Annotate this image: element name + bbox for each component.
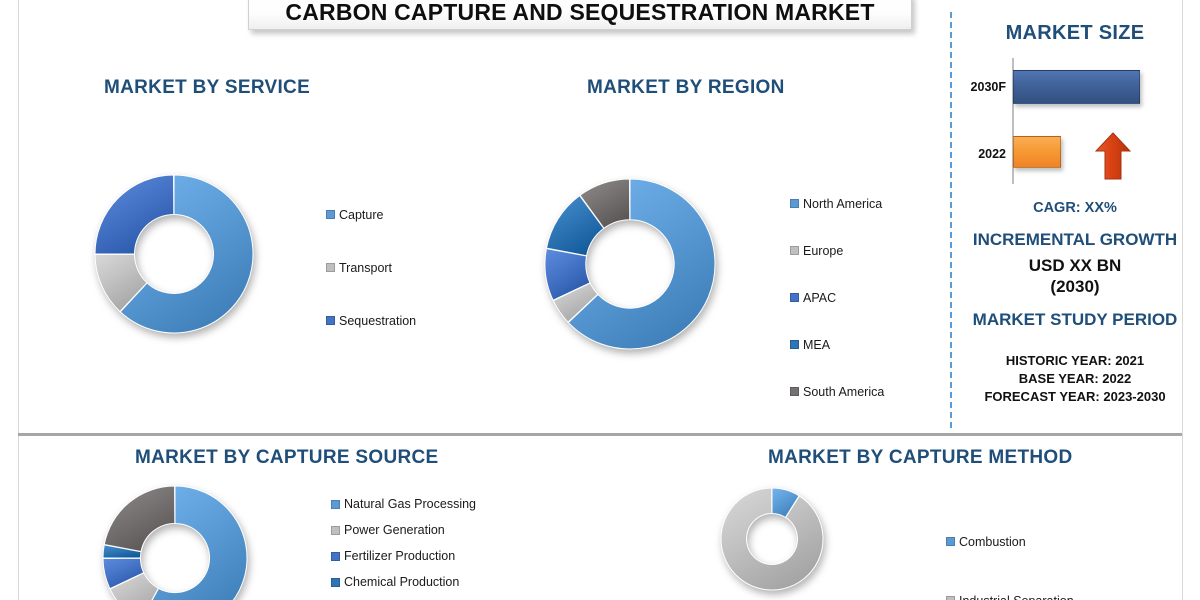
incremental-growth-title: INCREMENTAL GROWTH (950, 230, 1200, 250)
page-title: CARBON CAPTURE AND SEQUESTRATION MARKET (285, 0, 874, 26)
market-study-period-title: MARKET STUDY PERIOD (950, 310, 1200, 330)
donut-chart-market-by-service (92, 172, 256, 336)
incremental-growth-value: USD XX BN (950, 255, 1200, 276)
legend-label: MEA (803, 338, 830, 352)
donut-chart-market-by-region (542, 176, 718, 352)
section-title-market-by-capture-method: MARKET BY CAPTURE METHOD (768, 447, 1073, 469)
legend-item[interactable]: Combustion (946, 512, 1074, 571)
growth-arrow-up-icon (1095, 132, 1131, 180)
market-study-period-lines: HISTORIC YEAR: 2021 BASE YEAR: 2022 FORE… (950, 352, 1200, 406)
incremental-growth-value-block: USD XX BN (2030) (950, 255, 1200, 297)
legend-swatch-icon (790, 199, 799, 208)
title-banner: CARBON CAPTURE AND SEQUESTRATION MARKET (248, 0, 912, 30)
section-title-market-size: MARKET SIZE (950, 22, 1200, 45)
legend-item[interactable]: Transport (326, 241, 416, 294)
cagr-label: CAGR: XX% (950, 200, 1200, 216)
legend-swatch-icon (946, 596, 955, 600)
legend-item[interactable]: Natural Gas Processing (331, 491, 476, 517)
legend-item[interactable]: Others (331, 595, 476, 600)
legend-swatch-icon (790, 293, 799, 302)
frame-border-right (1182, 0, 1183, 600)
frame-border-left (18, 0, 19, 600)
legend-label: Combustion (959, 535, 1026, 549)
infographic-canvas: CARBON CAPTURE AND SEQUESTRATION MARKET … (0, 0, 1200, 600)
bar-category-label-2022: 2022 (948, 147, 1006, 161)
legend-item[interactable]: APAC (790, 274, 884, 321)
legend-label: South America (803, 385, 884, 399)
section-title-market-by-capture-source: MARKET BY CAPTURE SOURCE (135, 447, 438, 469)
legend-swatch-icon (326, 210, 335, 219)
donut-chart-market-by-capture-source (100, 483, 250, 600)
horizontal-divider (18, 433, 1182, 436)
bar-2022 (1013, 136, 1061, 168)
historic-year: HISTORIC YEAR: 2021 (950, 352, 1200, 370)
legend-item[interactable]: Sequestration (326, 294, 416, 347)
section-title-market-by-region: MARKET BY REGION (587, 77, 785, 99)
donut-chart-market-by-capture-method (718, 485, 826, 593)
legend-market-by-capture-source: Natural Gas ProcessingPower GenerationFe… (331, 491, 476, 600)
legend-label: Power Generation (344, 523, 445, 537)
legend-label: APAC (803, 291, 836, 305)
legend-label: Europe (803, 244, 843, 258)
legend-item[interactable]: Chemical Production (331, 569, 476, 595)
legend-label: Sequestration (339, 314, 416, 328)
legend-item[interactable]: Power Generation (331, 517, 476, 543)
base-year: BASE YEAR: 2022 (950, 370, 1200, 388)
legend-label: Natural Gas Processing (344, 497, 476, 511)
legend-market-by-service: CaptureTransportSequestration (326, 188, 416, 347)
section-title-market-by-service: MARKET BY SERVICE (104, 77, 310, 99)
legend-label: Capture (339, 208, 383, 222)
legend-label: North America (803, 197, 882, 211)
bar-2030f (1013, 70, 1140, 104)
legend-market-by-capture-method: CombustionIndustrial Separation (946, 512, 1074, 600)
legend-label: Chemical Production (344, 575, 459, 589)
legend-swatch-icon (790, 246, 799, 255)
legend-item[interactable]: North America (790, 180, 884, 227)
incremental-growth-year: (2030) (950, 276, 1200, 297)
legend-swatch-icon (326, 263, 335, 272)
bar-category-label-2030f: 2030F (948, 80, 1006, 94)
legend-item[interactable]: Industrial Separation (946, 571, 1074, 600)
legend-item[interactable]: Fertilizer Production (331, 543, 476, 569)
legend-item[interactable]: South America (790, 368, 884, 415)
donut-segment (104, 486, 175, 552)
legend-swatch-icon (326, 316, 335, 325)
legend-item[interactable]: MEA (790, 321, 884, 368)
legend-swatch-icon (331, 500, 340, 509)
legend-swatch-icon (946, 537, 955, 546)
forecast-year: FORECAST YEAR: 2023-2030 (950, 388, 1200, 406)
legend-label: Fertilizer Production (344, 549, 455, 563)
legend-item[interactable]: Capture (326, 188, 416, 241)
legend-swatch-icon (331, 552, 340, 561)
legend-swatch-icon (790, 340, 799, 349)
legend-item[interactable]: Europe (790, 227, 884, 274)
legend-market-by-region: North AmericaEuropeAPACMEASouth America (790, 180, 884, 415)
legend-swatch-icon (331, 526, 340, 535)
donut-segment (721, 488, 823, 590)
legend-swatch-icon (331, 578, 340, 587)
legend-label: Transport (339, 261, 392, 275)
donut-segment (95, 175, 174, 254)
legend-label: Industrial Separation (959, 594, 1074, 600)
legend-swatch-icon (790, 387, 799, 396)
